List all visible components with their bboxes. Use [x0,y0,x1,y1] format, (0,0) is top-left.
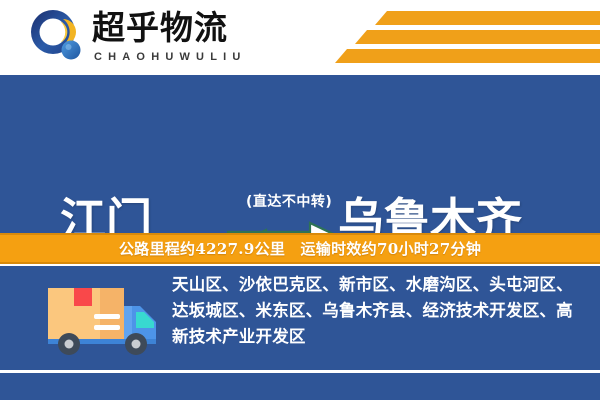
stripe-middle [355,30,600,44]
distance-and-duration-text: 公路里程约4227.9公里 运输时效约70小时27分钟 [119,238,481,259]
orange-stripes-decoration [330,8,600,68]
coverage-districts-section: 天山区、沙依巴克区、新市区、水磨沟区、头屯河区、达坂城区、米东区、乌鲁木齐县、经… [0,266,600,370]
brand-name-en: CHAOHUWULIU [94,51,247,63]
logistics-route-banner: 超乎物流 CHAOHUWULIU 江门 (直达不中转) 【往返运输】 乌鲁木齐 … [0,0,600,400]
delivery-truck-icon [44,276,168,356]
district-list-text: 天山区、沙依巴克区、新市区、水磨沟区、头屯河区、达坂城区、米东区、乌鲁木齐县、经… [172,272,584,350]
circle-q-logo-icon [30,9,82,61]
stripe-top [375,11,600,25]
brand-logo: 超乎物流 CHAOHUWULIU [30,7,280,65]
route-panel: 江门 (直达不中转) 【往返运输】 乌鲁木齐 [0,75,600,233]
route-info-bar: 公路里程约4227.9公里 运输时效约70小时27分钟 [0,233,600,264]
stripe-bottom [335,49,600,63]
banner-footer [0,373,600,400]
brand-name-cn: 超乎物流 [92,7,228,49]
banner-header: 超乎物流 CHAOHUWULIU [0,0,600,75]
direct-shipping-note: (直达不中转) [246,191,332,211]
